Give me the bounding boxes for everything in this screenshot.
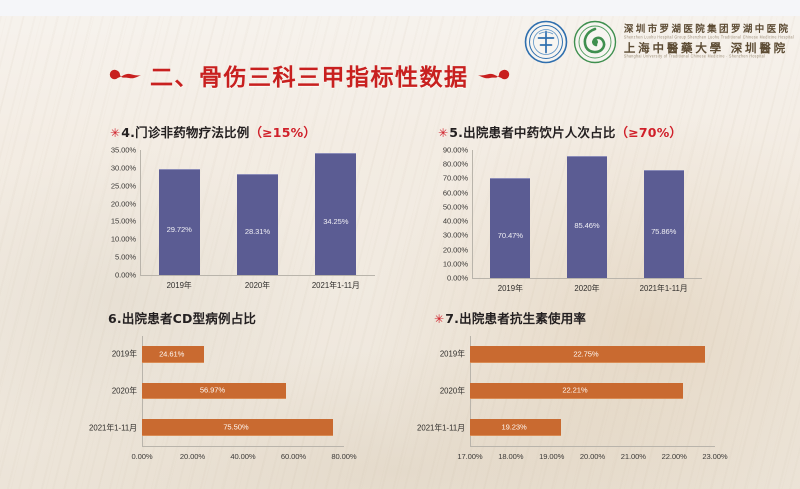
chart-7-title-text: 出院患者抗生素使用率 [459,311,586,326]
bar-7-1: 22.21% [470,383,683,400]
chart-4-index: 4. [121,125,135,140]
y-axis-tick-label: 15.00% [111,217,136,226]
bar-6-2: 75.50% [142,419,333,436]
y-axis-tick-label: 10.00% [443,259,468,268]
category-label: 2021年1-11月 [89,422,137,433]
y-axis-tick-label: 30.00% [443,231,468,240]
chart-6-index: 6. [108,311,122,326]
bar-5-2: 75.86% [644,170,684,278]
university-seal-icon [573,20,617,64]
y-axis-tick-label: 20.00% [443,245,468,254]
bar-value-label: 22.75% [573,349,598,358]
category-label: 2021年1-11月 [640,283,688,294]
chart-5-marker-icon: ✳ [438,126,448,140]
chart-7-title: ✳7.出院患者抗生素使用率 [434,308,586,327]
bar-value-label: 70.47% [490,231,530,240]
x-axis-tick-label: 21.00% [621,452,646,461]
x-axis-line [142,446,344,447]
bar-value-label: 29.72% [159,225,200,234]
chart-5-plot: 0.00%10.00%20.00%30.00%40.00%50.00%60.00… [472,150,702,278]
y-axis-tick-label: 30.00% [111,163,136,172]
bar-5-1: 85.46% [567,156,607,278]
chart-5-index: 5. [449,125,463,140]
chart-4-plot: 0.00%5.00%10.00%15.00%20.00%25.00%30.00%… [140,150,375,275]
y-axis-tick-label: 90.00% [443,146,468,155]
y-axis-tick-label: 5.00% [115,253,136,262]
x-axis-tick-label: 60.00% [281,452,306,461]
bar-value-label: 75.86% [644,227,684,236]
y-axis-tick-label: 10.00% [111,235,136,244]
category-label: 2019年 [498,283,523,294]
category-label: 2020年 [574,283,599,294]
y-axis-line [140,150,141,275]
x-axis-tick-label: 23.00% [702,452,727,461]
branding-logos: 深圳市罗湖医院集团罗湖中医院 Shenzhen Luohu Hospital G… [524,20,794,64]
page-title: 二、骨伤三科三甲指标性数据 [108,58,511,92]
category-label: 2019年 [167,280,192,291]
y-axis-tick-label: 80.00% [443,160,468,169]
y-axis-tick-label: 50.00% [443,202,468,211]
x-axis-tick-label: 17.00% [457,452,482,461]
y-axis-tick-label: 70.00% [443,174,468,183]
y-axis-tick-label: 35.00% [111,146,136,155]
chart-4-marker-icon: ✳ [110,126,120,140]
chart-4-threshold: （≥15%） [249,125,316,140]
bar-value-label: 22.21% [562,386,587,395]
bar-value-label: 19.23% [502,423,527,432]
chart-5-title-text: 出院患者中药饮片人次占比 [463,125,615,140]
x-axis-line [472,278,702,279]
bar-4-2: 34.25% [315,153,356,275]
bar-value-label: 28.31% [237,227,278,236]
page-title-text: 二、骨伤三科三甲指标性数据 [150,58,469,92]
branding-text: 深圳市罗湖医院集团罗湖中医院 Shenzhen Luohu Hospital G… [622,25,794,59]
y-axis-tick-label: 0.00% [115,271,136,280]
y-axis-line [472,150,473,278]
slide-canvas: 二、骨伤三科三甲指标性数据 [0,0,800,489]
x-axis-tick-label: 80.00% [331,452,356,461]
category-label: 2020年 [245,280,270,291]
category-label: 2019年 [112,349,137,360]
x-axis-tick-label: 19.00% [539,452,564,461]
cloud-ornament-right-icon [477,66,511,84]
category-label: 2020年 [112,386,137,397]
y-axis-tick-label: 40.00% [443,217,468,226]
bar-6-0: 24.61% [142,346,204,363]
y-axis-tick-label: 25.00% [111,181,136,190]
x-axis-tick-label: 40.00% [230,452,255,461]
bar-value-label: 24.61% [159,349,184,358]
x-axis-tick-label: 18.00% [498,452,523,461]
cloud-ornament-left-icon [108,66,142,84]
hospital-seal-icon [524,20,568,64]
bar-value-label: 85.46% [567,221,607,230]
bar-7-2: 19.23% [470,419,561,436]
y-axis-tick-label: 60.00% [443,188,468,197]
bar-5-0: 70.47% [490,178,530,278]
chart-5-title: ✳5.出院患者中药饮片人次占比（≥70%） [438,122,682,141]
bar-4-0: 29.72% [159,169,200,275]
x-axis-line [140,275,375,276]
x-axis-tick-label: 20.00% [580,452,605,461]
bar-6-1: 56.97% [142,383,286,400]
category-label: 2019年 [440,349,465,360]
slide-header: 二、骨伤三科三甲指标性数据 [0,16,800,94]
chart-4-title-text: 门诊非药物疗法比例 [135,125,249,140]
top-band [0,0,800,16]
bar-4-1: 28.31% [237,174,278,275]
chart-7-index: 7. [445,311,459,326]
y-axis-tick-label: 20.00% [111,199,136,208]
bar-value-label: 34.25% [315,217,356,226]
chart-6-title: 6.出院患者CD型病例占比 [107,308,256,327]
bar-7-0: 22.75% [470,346,705,363]
category-label: 2020年 [440,386,465,397]
x-axis-tick-label: 20.00% [180,452,205,461]
x-axis-tick-label: 22.00% [662,452,687,461]
category-label: 2021年1-11月 [312,280,360,291]
hospital-name-en: Shenzhen Luohu Hospital Group Shenzhen L… [624,36,794,41]
bar-value-label: 56.97% [200,386,225,395]
chart-7-marker-icon: ✳ [434,312,444,326]
chart-6-title-text: 出院患者CD型病例占比 [122,311,256,326]
chart-5-threshold: （≥70%） [616,125,683,140]
y-axis-tick-label: 0.00% [447,274,468,283]
chart-4-title: ✳4.门诊非药物疗法比例（≥15%） [110,122,316,141]
chart-6-plot: 0.00%20.00%40.00%60.00%80.00%24.61%2019年… [142,336,344,446]
university-name-en: Shanghai University of Traditional Chine… [624,55,794,60]
x-axis-line [470,446,715,447]
x-axis-tick-label: 0.00% [131,452,152,461]
bar-value-label: 75.50% [223,423,248,432]
category-label: 2021年1-11月 [417,422,465,433]
chart-7-plot: 17.00%18.00%19.00%20.00%21.00%22.00%23.0… [470,336,715,446]
